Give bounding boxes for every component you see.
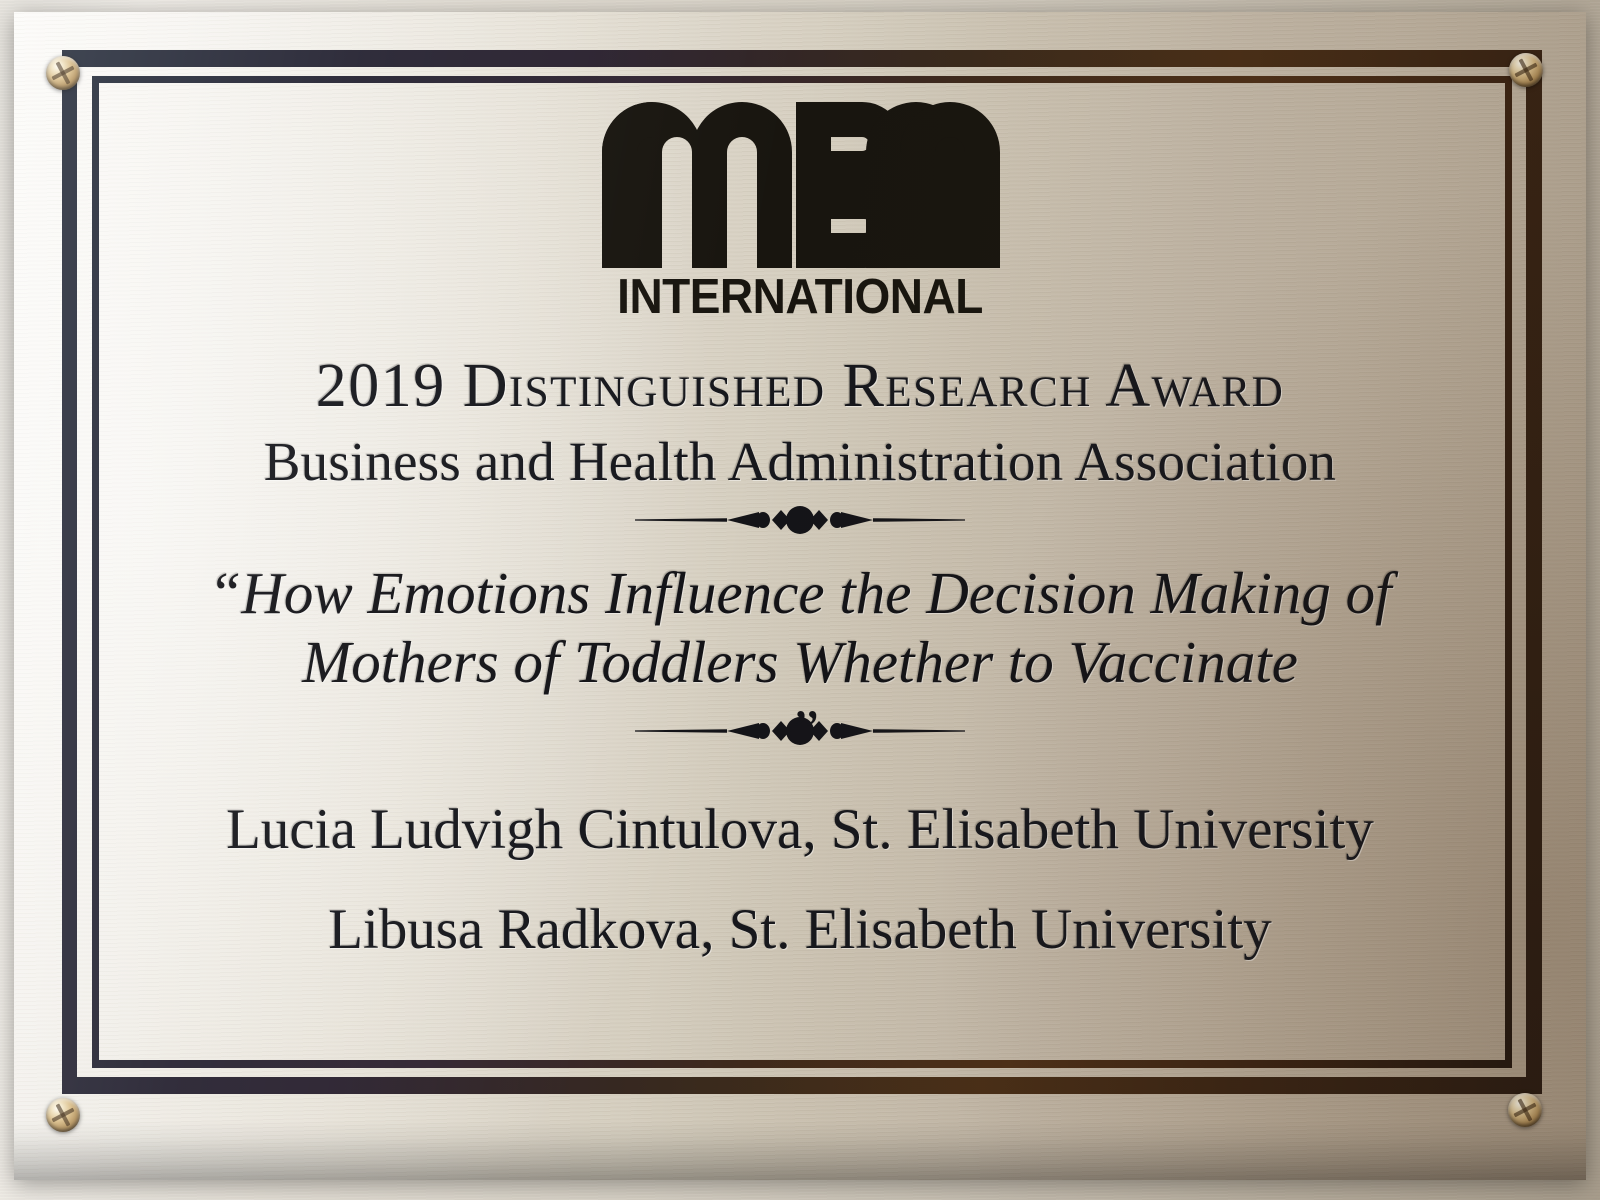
- corner-screw-top-left: [46, 56, 80, 90]
- award-plaque-plate: INTERNATIONAL 2019 Distinguished Researc…: [14, 12, 1586, 1180]
- corner-screw-top-right: [1509, 53, 1543, 87]
- paper-title-closing-quote: ”: [787, 702, 819, 760]
- paper-title-line-1: “How Emotions Influence the Decision Mak…: [109, 559, 1491, 629]
- paper-title: “How Emotions Influence the Decision Mak…: [109, 559, 1491, 698]
- plaque-photo: INTERNATIONAL 2019 Distinguished Researc…: [0, 0, 1600, 1200]
- ornament-divider-bottom: ”: [109, 708, 1491, 754]
- paper-title-line-2: Mothers of Toddlers Whether to Vaccinate: [109, 628, 1491, 698]
- mbaa-logo-block: INTERNATIONAL: [109, 100, 1491, 320]
- corner-screw-bottom-left: [46, 1098, 80, 1132]
- association-name: Business and Health Administration Assoc…: [109, 433, 1491, 491]
- mbaa-international-wordmark: INTERNATIONAL: [604, 270, 996, 320]
- corner-screw-bottom-right: [1508, 1093, 1542, 1127]
- svg-text:INTERNATIONAL: INTERNATIONAL: [617, 270, 983, 320]
- ornament-divider-top: [109, 497, 1491, 543]
- plaque-engraved-content: INTERNATIONAL 2019 Distinguished Researc…: [109, 90, 1491, 1110]
- author-list: Lucia Ludvigh Cintulova, St. Elisabeth U…: [109, 800, 1491, 960]
- award-title: 2019 Distinguished Research Award: [109, 354, 1491, 419]
- mbaa-logo-icon: [600, 100, 1000, 268]
- plate-bottom-shadow: [14, 1120, 1586, 1180]
- author-line: Lucia Ludvigh Cintulova, St. Elisabeth U…: [109, 800, 1491, 860]
- author-line: Libusa Radkova, St. Elisabeth University: [109, 900, 1491, 960]
- ornament-divider-icon: [635, 503, 965, 537]
